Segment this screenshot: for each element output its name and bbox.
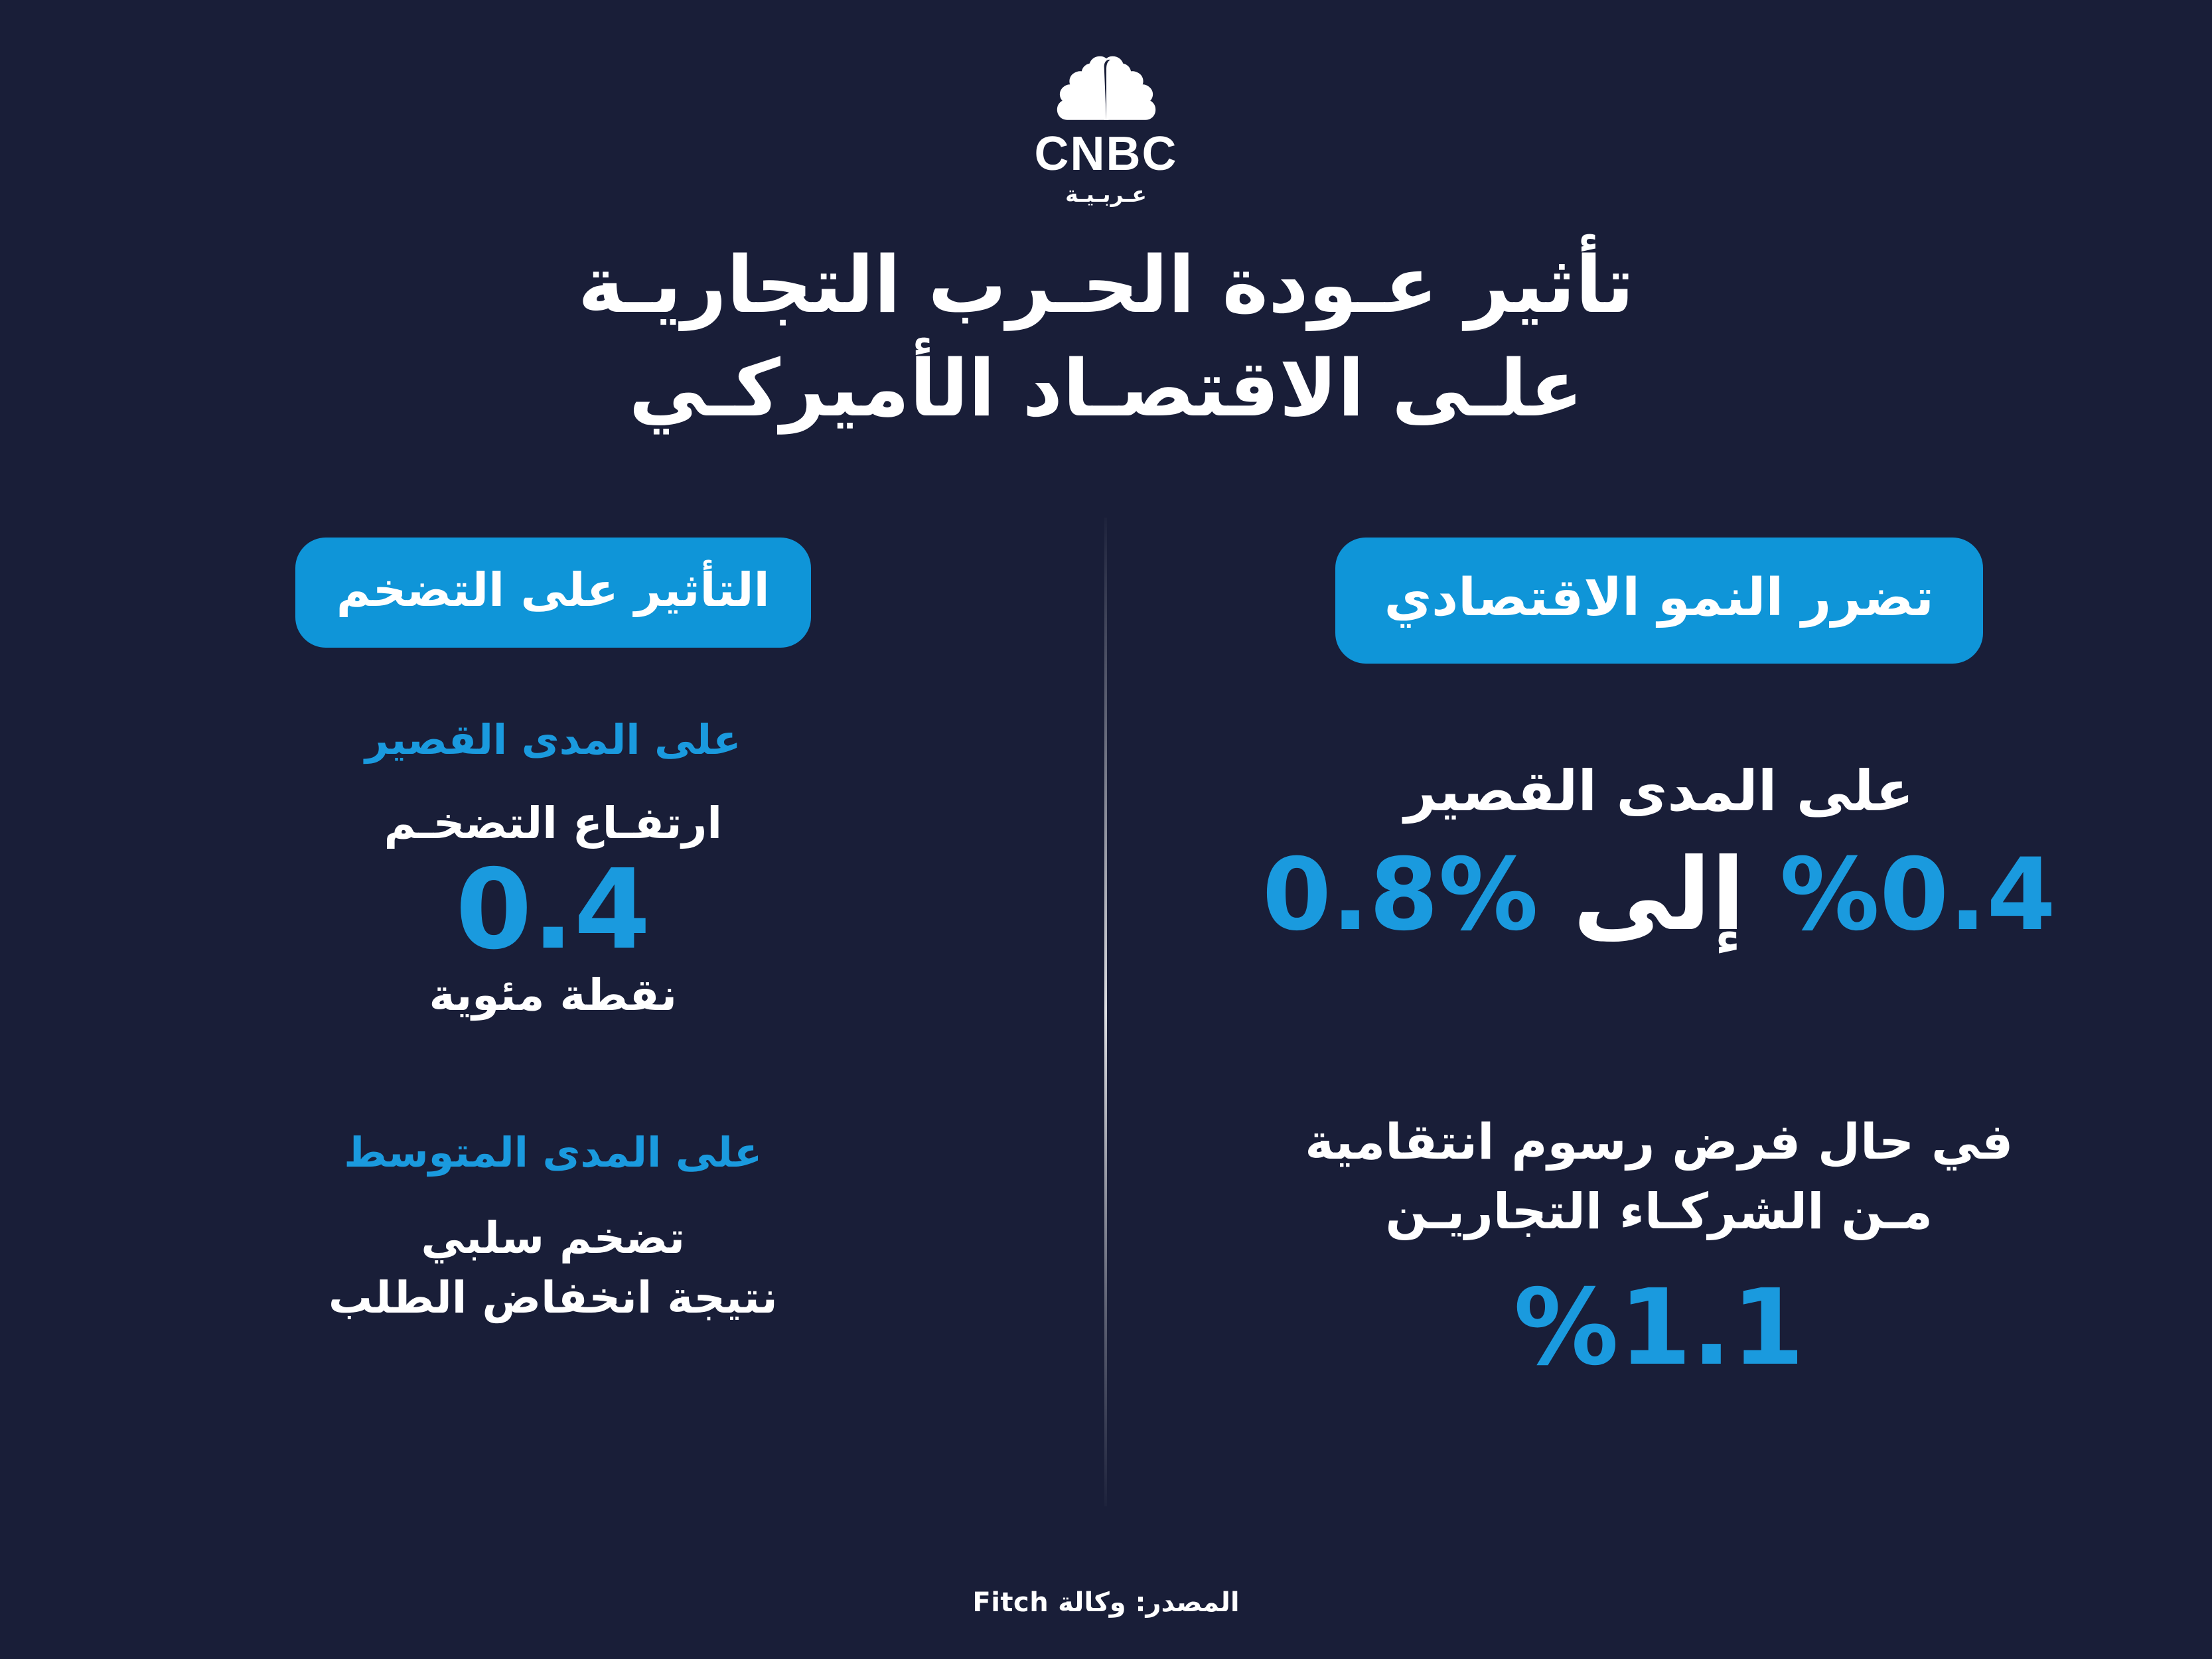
- growth-retaliation-line-1: في حال فرض رسوم انتقامية: [1305, 1108, 2013, 1177]
- badge-economic-growth: تضرر النمو الاقتصادي: [1335, 538, 1983, 664]
- title-line-2: علـى الاقتصـاد الأميركـي: [199, 337, 2013, 441]
- source-footer: المصدر: وكالة Fitch: [0, 1587, 2212, 1618]
- growth-retaliation-value: %1.1: [1514, 1273, 1805, 1384]
- growth-retaliation-line-2: مـن الشركـاء التجاريـن: [1305, 1177, 2013, 1247]
- inflation-short-term-label: على المدى القصير: [365, 714, 741, 766]
- columns-container: تضرر النمو الاقتصادي على المدى القصير %0…: [0, 538, 2212, 1384]
- growth-range-high: %0.8: [1262, 837, 1538, 953]
- cnbc-arabic-wordmark: عـربـيـة: [1065, 183, 1147, 205]
- growth-range-low: %0.4: [1780, 837, 2056, 953]
- cnbc-peacock-icon: [1051, 52, 1162, 123]
- column-inflation-impact: التأثير على التضخم على المدى القصير ارتف…: [0, 538, 1106, 1384]
- page-title: تأثير عـودة الحـرب التجاريـة علـى الاقتص…: [0, 234, 2212, 441]
- cnbc-arabia-logo: CNBC عـربـيـة: [0, 52, 2212, 205]
- growth-short-term-range: %0.4 إلى %0.8: [1262, 843, 2056, 948]
- growth-range-connector: إلى: [1573, 837, 1745, 953]
- inflation-negative-line-2: نتيجة انخفاض الطلب: [329, 1268, 778, 1328]
- title-line-1: تأثير عـودة الحـرب التجاريـة: [199, 234, 2013, 337]
- inflation-negative-note: تضخم سلبي نتيجة انخفاض الطلب: [329, 1208, 778, 1328]
- growth-retaliation-note: في حال فرض رسوم انتقامية مـن الشركـاء ال…: [1305, 1108, 2013, 1247]
- column-economic-growth: تضرر النمو الاقتصادي على المدى القصير %0…: [1106, 538, 2212, 1384]
- inflation-rise-label: ارتفـاع التضخـم: [384, 798, 722, 849]
- inflation-rise-unit: نقطة مئوية: [429, 970, 677, 1021]
- growth-short-term-label: على المدى القصير: [1404, 757, 1913, 826]
- inflation-negative-line-1: تضخم سلبي: [329, 1208, 778, 1268]
- badge-inflation-impact: التأثير على التضخم: [295, 538, 811, 648]
- inflation-mid-term-label: على المدى المتوسط: [344, 1127, 762, 1179]
- inflation-rise-value: 0.4: [455, 853, 650, 968]
- infographic-poster: CNBC عـربـيـة تأثير عـودة الحـرب التجاري…: [0, 0, 2212, 1659]
- cnbc-wordmark: CNBC: [1035, 130, 1178, 178]
